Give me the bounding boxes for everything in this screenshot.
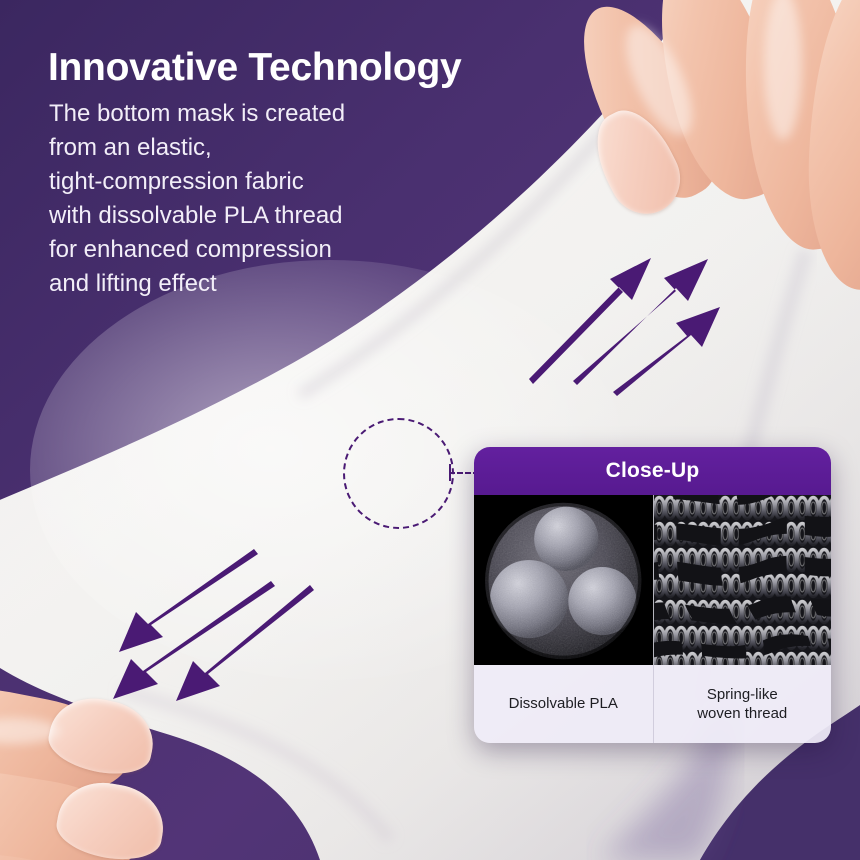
caption-text: Spring-like woven thread (697, 685, 787, 723)
caption-line-2: woven thread (697, 705, 787, 722)
pla-microsphere-graphic (474, 495, 653, 665)
page-title: Innovative Technology (48, 46, 461, 90)
callout-connector-cap (449, 464, 451, 481)
close-up-card[interactable]: Close-Up (474, 447, 831, 743)
description-line: and lifting effect (49, 267, 345, 301)
description-line: tight-compression fabric (49, 165, 345, 199)
close-up-card-images (474, 495, 831, 665)
description-line: with dissolvable PLA thread (49, 199, 345, 233)
dashed-callout-circle (343, 418, 454, 529)
lifting-arrows-group (529, 258, 720, 396)
caption-text: Dissolvable PLA (509, 694, 618, 713)
close-up-card-captions: Dissolvable PLA Spring-like woven thread (474, 665, 831, 743)
coiled-thread-photo[interactable] (653, 495, 832, 665)
coiled-thread-graphic (654, 495, 832, 665)
lifting-direction-arrow (529, 258, 651, 384)
lifting-direction-arrow (613, 307, 720, 396)
compression-arrows-group (113, 549, 314, 701)
description-paragraph: The bottom mask is created from an elast… (49, 97, 345, 301)
promo-graphic: Close-Up (0, 0, 860, 860)
close-up-card-header: Close-Up (474, 447, 831, 495)
caption-line-1: Spring-like (707, 686, 778, 703)
caption-dissolvable-pla: Dissolvable PLA (474, 665, 653, 743)
description-line: for enhanced compression (49, 233, 345, 267)
caption-spring-like-woven-thread: Spring-like woven thread (653, 665, 832, 743)
pla-microsphere-photo[interactable] (474, 495, 653, 665)
description-line: The bottom mask is created (49, 97, 345, 131)
compression-direction-arrow (119, 549, 258, 652)
description-line: from an elastic, (49, 131, 345, 165)
close-up-card-title: Close-Up (606, 459, 700, 483)
